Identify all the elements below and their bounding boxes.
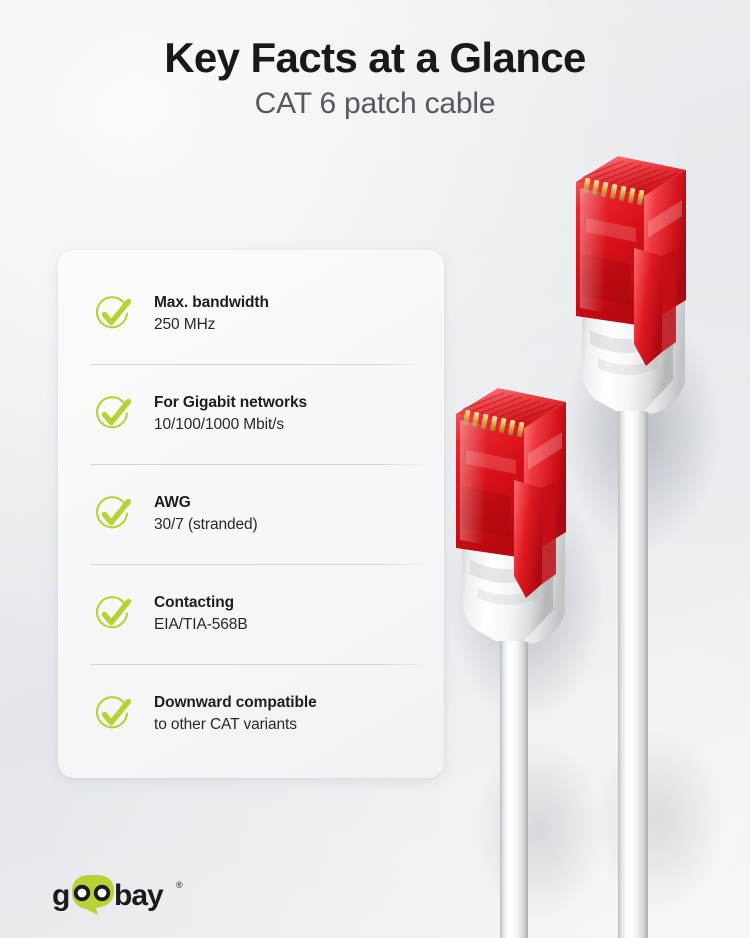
feature-item-contacting: Contacting EIA/TIA-568B	[58, 564, 444, 664]
logo-text-g: g	[52, 879, 69, 912]
feature-title: Contacting	[154, 594, 234, 611]
header: Key Facts at a Glance CAT 6 patch cable	[0, 36, 750, 120]
feature-title: Downward compatible	[154, 694, 317, 711]
check-circle-icon	[92, 693, 134, 735]
cat6-patch-cable-photo	[430, 130, 750, 938]
check-circle-icon	[92, 393, 134, 435]
feature-text: AWG 30/7 (stranded)	[154, 493, 258, 535]
page-title: Key Facts at a Glance	[0, 36, 750, 81]
feature-value: 30/7 (stranded)	[154, 514, 258, 535]
feature-value: to other CAT variants	[154, 714, 317, 735]
logo-trademark: ®	[176, 880, 183, 890]
feature-text: Downward compatible to other CAT variant…	[154, 693, 317, 735]
check-circle-icon	[92, 593, 134, 635]
check-circle-icon	[92, 293, 134, 335]
feature-item-downward-compatible: Downward compatible to other CAT variant…	[58, 664, 444, 764]
feature-text: Contacting EIA/TIA-568B	[154, 593, 248, 635]
feature-title: AWG	[154, 494, 191, 511]
page-subtitle: CAT 6 patch cable	[0, 87, 750, 121]
feature-title: Max. bandwidth	[154, 294, 269, 311]
goobay-logo: g bay ®	[52, 872, 242, 916]
feature-list: Max. bandwidth 250 MHz For Gigabit netwo…	[58, 250, 444, 778]
feature-value: 250 MHz	[154, 314, 269, 335]
feature-item-awg: AWG 30/7 (stranded)	[58, 464, 444, 564]
feature-title: For Gigabit networks	[154, 394, 307, 411]
logo-text-bay: bay	[114, 879, 164, 912]
feature-item-gigabit: For Gigabit networks 10/100/1000 Mbit/s	[58, 364, 444, 464]
feature-value: 10/100/1000 Mbit/s	[154, 414, 307, 435]
feature-value: EIA/TIA-568B	[154, 614, 248, 635]
key-facts-card: Max. bandwidth 250 MHz For Gigabit netwo…	[58, 250, 444, 778]
infographic-canvas: Key Facts at a Glance CAT 6 patch cable	[0, 0, 750, 938]
feature-text: Max. bandwidth 250 MHz	[154, 293, 269, 335]
feature-text: For Gigabit networks 10/100/1000 Mbit/s	[154, 393, 307, 435]
feature-item-bandwidth: Max. bandwidth 250 MHz	[58, 264, 444, 364]
check-circle-icon	[92, 493, 134, 535]
